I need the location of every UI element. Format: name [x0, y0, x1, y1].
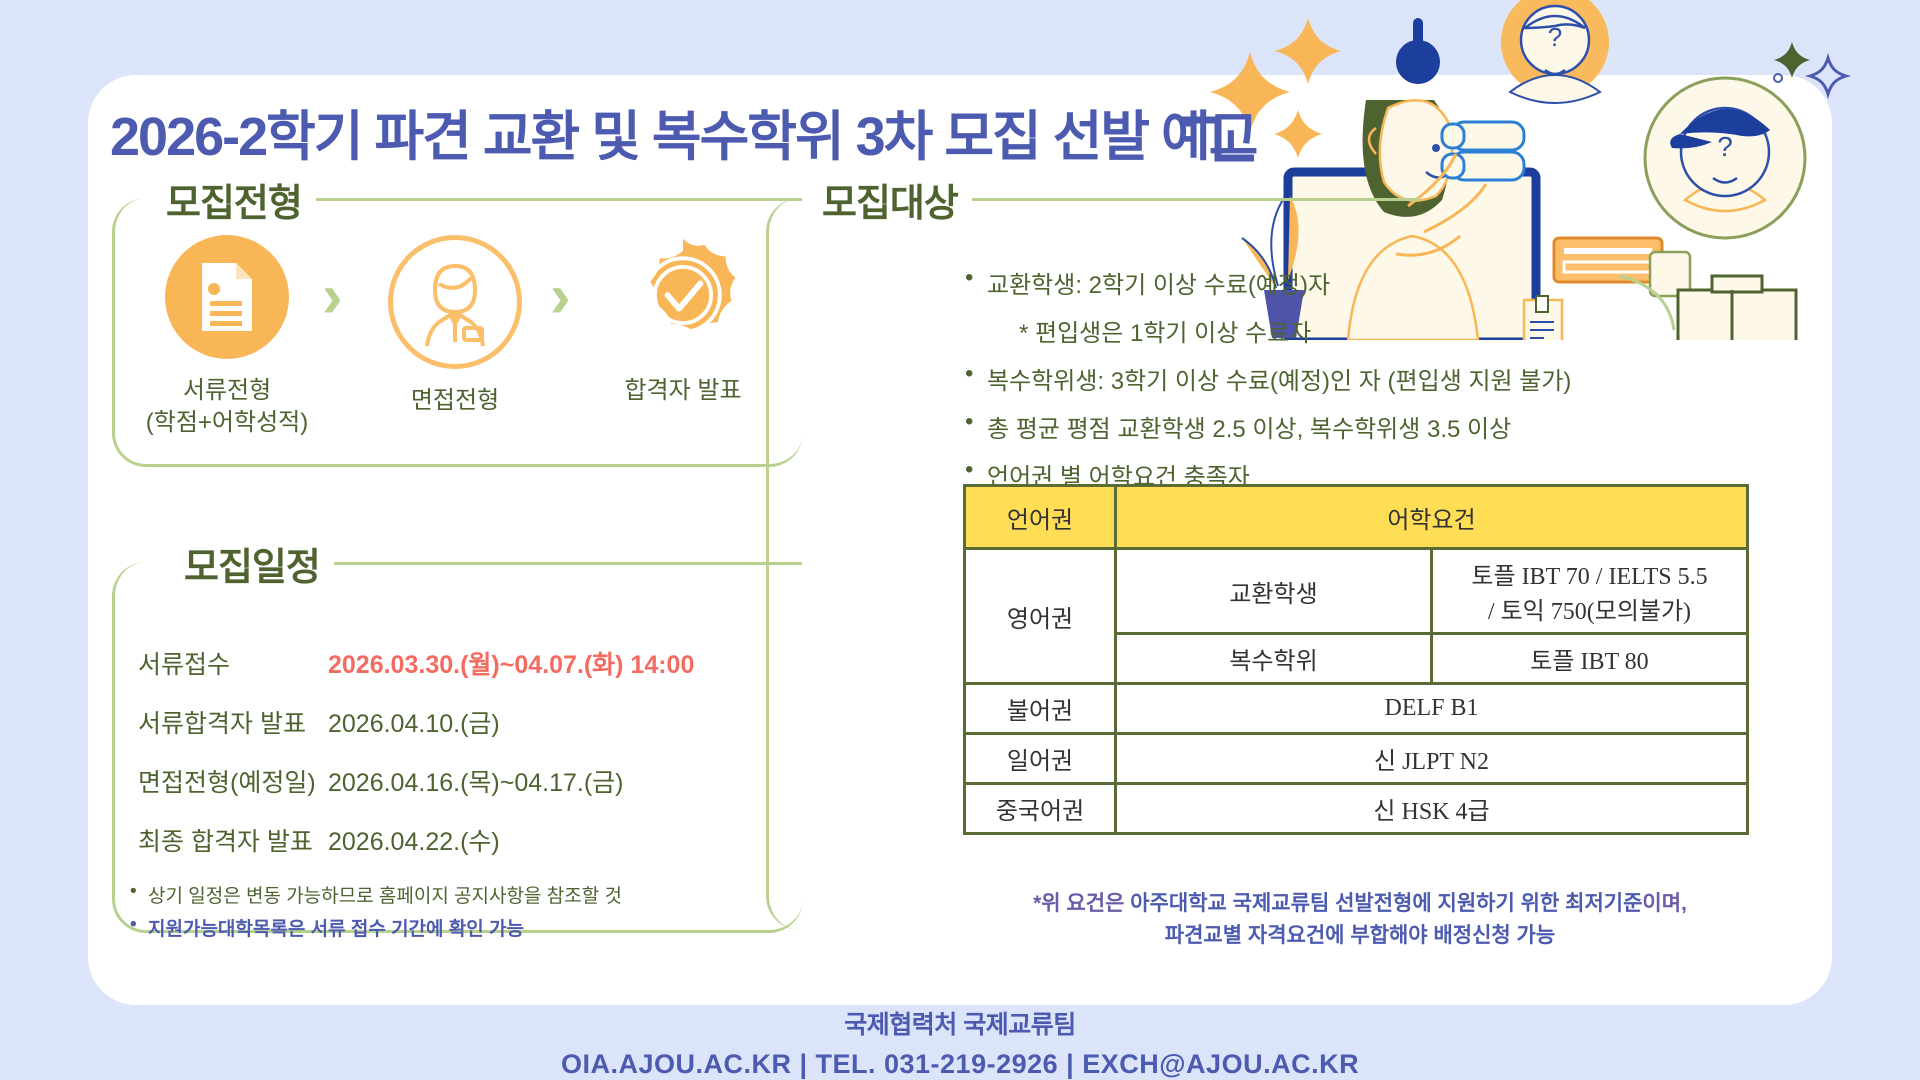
- table-header-language: 언어권: [965, 486, 1116, 549]
- schedule-value: 2026.03.30.(월)~04.07.(화) 14:00: [328, 645, 694, 681]
- footer: 국제협력처 국제교류팀 OIA.AJOU.AC.KR | TEL. 031-21…: [0, 1005, 1920, 1080]
- schedule-label: 서류접수: [138, 645, 328, 681]
- schedule-heading-rule: [318, 562, 802, 565]
- schedule-label: 최종 합격자 발표: [138, 822, 328, 858]
- schedule-label: 서류합격자 발표: [138, 704, 328, 740]
- cell-type-exchange: 교환학생: [1116, 549, 1432, 634]
- process-step-3: 합격자 발표: [588, 235, 778, 407]
- schedule-value: 2026.04.22.(수): [328, 822, 500, 858]
- process-step-3-label: 합격자 발표: [588, 375, 778, 407]
- cell-requirement-french: DELF B1: [1116, 684, 1748, 734]
- chevron-right-icon-2: ›: [550, 261, 571, 332]
- schedule-label: 면접전형(예정일): [138, 763, 328, 799]
- note-suffix: 이며,: [1642, 892, 1686, 915]
- cell-requirement-chinese: 신 HSK 4급: [1116, 784, 1748, 834]
- table-row: 불어권 DELF B1: [965, 684, 1748, 734]
- eligibility-bullet: 총 평균 평점 교환학생 2.5 이상, 복수학위생 3.5 이상: [965, 409, 1785, 444]
- language-requirement-table: 언어권 어학요건 영어권 교환학생 토플 IBT 70 / IELTS 5.5 …: [963, 484, 1749, 835]
- process-step-2-label: 면접전형: [360, 385, 550, 417]
- table-note-line2: 파견교별 자격요건에 부합해야 배정신청 가능: [930, 920, 1790, 952]
- schedule-row: 서류합격자 발표 2026.04.10.(금): [138, 704, 758, 740]
- table-header-requirement: 어학요건: [1116, 486, 1748, 549]
- footer-department: 국제협력처 국제교류팀: [0, 1005, 1920, 1041]
- process-steps: 서류전형 (학점+어학성적) › 면접전형 ›: [110, 215, 800, 445]
- schedule-heading: 모집일정: [170, 536, 334, 591]
- sparkle-outline-icon: [1810, 58, 1846, 94]
- cell-requirement-english-dual: 토플 IBT 80: [1432, 634, 1748, 684]
- cell-type-dualdegree: 복수학위: [1116, 634, 1432, 684]
- document-icon: [165, 235, 289, 359]
- cell-language-french: 불어권: [965, 684, 1116, 734]
- cell-language-chinese: 중국어권: [965, 784, 1116, 834]
- pin-icon: [1396, 18, 1440, 84]
- eligibility-bullets: 교환학생: 2학기 이상 수료(예정)자 * 편입생은 1학기 이상 수료자 복…: [965, 265, 1785, 505]
- schedule-row: 서류접수 2026.03.30.(월)~04.07.(화) 14:00: [138, 645, 758, 681]
- footer-contact: OIA.AJOU.AC.KR | TEL. 031-219-2926 | EXC…: [0, 1049, 1920, 1080]
- eligibility-bullet-sub: * 편입생은 1학기 이상 수료자: [965, 313, 1785, 348]
- process-heading-rule: [300, 198, 802, 201]
- award-seal-check-icon: [621, 235, 745, 359]
- cell-language-japanese: 일어권: [965, 734, 1116, 784]
- schedule-row: 면접전형(예정일) 2026.04.16.(목)~04.17.(금): [138, 763, 758, 799]
- table-note: *위 요건은 아주대학교 국제교류팀 선발전형에 지원하기 위한 최저기준이며,…: [930, 888, 1790, 951]
- step2-line1: 면접전형: [360, 385, 550, 417]
- process-step-1-label: 서류전형 (학점+어학성적): [132, 375, 322, 440]
- step3-line1: 합격자 발표: [588, 375, 778, 407]
- schedule-value: 2026.04.16.(목)~04.17.(금): [328, 763, 623, 799]
- schedule-value: 2026.04.10.(금): [328, 704, 500, 740]
- interview-person-icon: [388, 235, 522, 369]
- svg-text:?: ?: [1548, 22, 1562, 52]
- eligibility-bullet: 복수학위생: 3학기 이상 수료(예정)인 자 (편입생 지원 불가): [965, 361, 1785, 396]
- step1-line1: 서류전형: [132, 375, 322, 407]
- step1-line2: (학점+어학성적): [132, 407, 322, 439]
- process-step-2: 면접전형: [360, 235, 550, 417]
- page-title: 2026-2학기 파견 교환 및 복수학위 3차 모집 선발 예고: [110, 92, 1256, 171]
- schedule-note: 지원가능대학목록은 서류 접수 기간에 확인 가능: [138, 914, 758, 941]
- schedule-list: 서류접수 2026.03.30.(월)~04.07.(화) 14:00 서류합격…: [138, 645, 758, 947]
- schedule-row: 최종 합격자 발표 2026.04.22.(수): [138, 822, 758, 858]
- sparkle-small-icon: [1774, 42, 1810, 78]
- table-note-line1: *위 요건은 아주대학교 국제교류팀 선발전형에 지원하기 위한 최저기준이며,: [930, 888, 1790, 920]
- svg-text:?: ?: [1717, 131, 1733, 162]
- eligibility-bullet: 교환학생: 2학기 이상 수료(예정)자: [965, 265, 1785, 300]
- eligibility-heading: 모집대상: [808, 172, 972, 227]
- note-prefix: *위 요건은: [1033, 892, 1130, 915]
- dot-decor: [1774, 74, 1782, 82]
- eligibility-heading-rule: [958, 198, 1420, 201]
- schedule-notes: 상기 일정은 변동 가능하므로 홈페이지 공지사항을 참조할 것 지원가능대학목…: [138, 881, 758, 941]
- table-row: 영어권 교환학생 토플 IBT 70 / IELTS 5.5 / 토익 750(…: [965, 549, 1748, 634]
- req-line2: / 토익 750(모의불가): [1437, 591, 1742, 626]
- cell-requirement-english-exchange: 토플 IBT 70 / IELTS 5.5 / 토익 750(모의불가): [1432, 549, 1748, 634]
- chevron-right-icon-1: ›: [322, 261, 343, 332]
- cell-requirement-japanese: 신 JLPT N2: [1116, 734, 1748, 784]
- avatar-top-icon: ?: [1493, 0, 1617, 112]
- cell-language-english: 영어권: [965, 549, 1116, 684]
- schedule-note: 상기 일정은 변동 가능하므로 홈페이지 공지사항을 참조할 것: [138, 881, 758, 908]
- req-line1: 토플 IBT 70 / IELTS 5.5: [1437, 556, 1742, 591]
- process-step-1: 서류전형 (학점+어학성적): [132, 235, 322, 440]
- table-row: 일어권 신 JLPT N2: [965, 734, 1748, 784]
- table-header-row: 언어권 어학요건: [965, 486, 1748, 549]
- note-emphasis: 아주대학교 국제교류팀 선발전형에 지원하기 위한 최저기준: [1130, 892, 1642, 915]
- table-row: 중국어권 신 HSK 4급: [965, 784, 1748, 834]
